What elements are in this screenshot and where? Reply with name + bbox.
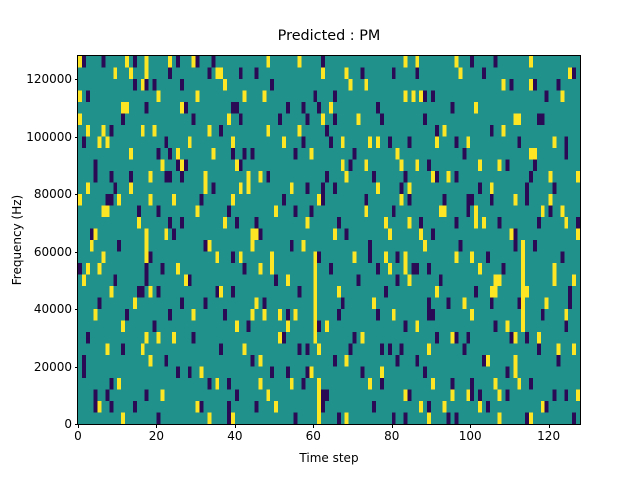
x-tick-label: 20: [149, 429, 164, 443]
y-tick-mark: [75, 309, 79, 310]
x-tick-mark: [392, 424, 393, 428]
chart-title: Predicted : PM: [78, 28, 580, 45]
y-tick-label: 40000: [34, 302, 72, 316]
y-tick-label: 120000: [26, 72, 72, 86]
y-tick-label: 100000: [26, 130, 72, 144]
x-tick-mark: [470, 424, 471, 428]
y-tick-mark: [75, 194, 79, 195]
x-tick-mark: [313, 424, 314, 428]
x-tick-label: 0: [74, 429, 82, 443]
x-tick-mark: [78, 424, 79, 428]
y-tick-label: 60000: [34, 245, 72, 259]
heatmap-axes: [77, 55, 581, 425]
heatmap-canvas: [78, 56, 580, 424]
x-tick-label: 100: [459, 429, 482, 443]
matplotlib-figure: Predicted : PM 020406080100120 020000400…: [0, 0, 640, 480]
x-tick-label: 120: [537, 429, 560, 443]
y-tick-mark: [75, 424, 79, 425]
y-tick-mark: [75, 367, 79, 368]
y-axis-label: Frequency (Hz): [10, 56, 24, 424]
y-tick-mark: [75, 252, 79, 253]
x-tick-mark: [156, 424, 157, 428]
x-tick-label: 40: [227, 429, 242, 443]
y-tick-mark: [75, 79, 79, 80]
x-axis-label: Time step: [78, 451, 580, 465]
y-tick-label: 0: [64, 417, 72, 431]
y-tick-mark: [75, 137, 79, 138]
x-tick-mark: [235, 424, 236, 428]
x-tick-label: 60: [306, 429, 321, 443]
y-tick-label: 80000: [34, 187, 72, 201]
x-tick-label: 80: [384, 429, 399, 443]
heatmap-image: [78, 56, 580, 424]
y-tick-label: 20000: [34, 360, 72, 374]
x-tick-mark: [549, 424, 550, 428]
